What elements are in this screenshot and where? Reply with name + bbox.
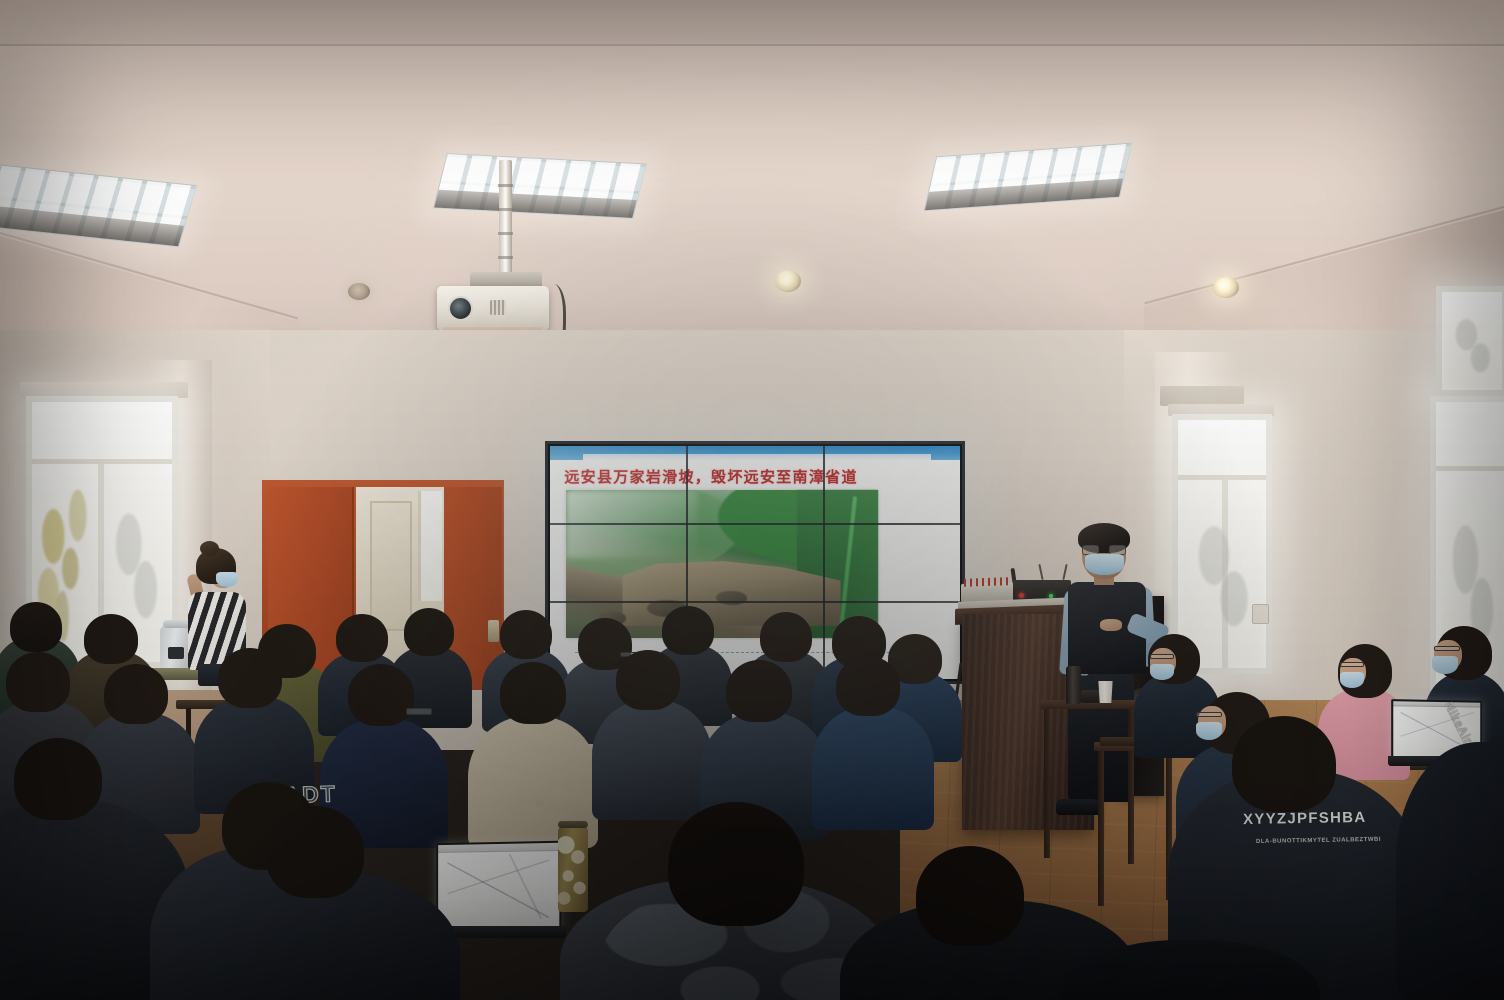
- slide-header-bar: [550, 446, 960, 460]
- photo-boulder: [716, 591, 747, 606]
- audience-head: [404, 608, 454, 656]
- ceiling-troffer-light-center: [433, 153, 647, 219]
- photo-mist: [566, 490, 697, 558]
- mixer-knobs[interactable]: [964, 577, 1008, 587]
- glasses-icon: [1150, 654, 1174, 659]
- pole-ring: [498, 232, 513, 235]
- projector-vent: [490, 300, 506, 315]
- corridor-door: [370, 501, 412, 631]
- pole-ring: [498, 184, 513, 187]
- laptop-sketch-content: [447, 853, 549, 918]
- stool-leg: [1098, 750, 1104, 906]
- window-transom: [1436, 402, 1504, 471]
- window-outdoor-view: [1444, 302, 1499, 384]
- projector-mount-pole: [499, 160, 512, 278]
- face-mask-icon: [216, 572, 238, 587]
- audience-head: [760, 612, 812, 662]
- window-outdoor-view: [1182, 494, 1263, 648]
- paper-cup[interactable]: [1097, 681, 1114, 703]
- audience-head: [348, 664, 414, 726]
- audience-head: [10, 602, 62, 652]
- audience-head: [104, 664, 168, 724]
- audience-head: [616, 650, 680, 710]
- window-right-tall: [1436, 286, 1504, 396]
- ceiling-soffit: [0, 0, 1504, 46]
- audience-head: [218, 648, 282, 708]
- audience-head: [336, 614, 388, 662]
- audience-head: [500, 610, 552, 659]
- glasses-icon: [1196, 712, 1222, 717]
- ceiling-seam-top: [0, 44, 1504, 46]
- audience-head: [266, 806, 364, 898]
- face-mask-icon: [1432, 656, 1458, 674]
- small-device-box[interactable]: [1081, 690, 1101, 703]
- ceiling-downlight-dim-left: [348, 283, 370, 300]
- slide-landslide-photo: [566, 490, 878, 638]
- face-mask-icon: [1340, 672, 1364, 688]
- air-vent-right: [1160, 386, 1244, 406]
- door-handle[interactable]: [488, 620, 499, 642]
- pole-ring: [498, 256, 513, 259]
- water-tumbler[interactable]: [558, 826, 588, 912]
- lecture-room-photo: 远安县万家岩滑坡，毁坏远安至南漳省道 113: [0, 0, 1504, 1000]
- projector-lens-icon: [448, 296, 473, 321]
- audience-head: [662, 606, 714, 655]
- audience-head: [84, 614, 138, 664]
- wall-outlet[interactable]: [1252, 604, 1269, 624]
- audience-head: [1232, 716, 1336, 812]
- glasses-icon: [406, 708, 432, 715]
- audience-head: [836, 656, 900, 716]
- kettle-control-panel[interactable]: [168, 647, 184, 659]
- hair-bun: [200, 541, 219, 556]
- ceiling-downlight-right: [1213, 277, 1239, 298]
- window-mid-right: [1172, 414, 1272, 674]
- audience-member: [592, 700, 712, 820]
- laptop-titlebar: [1393, 701, 1480, 707]
- audience-head: [14, 738, 102, 820]
- ceiling-downlight-center: [775, 270, 801, 292]
- thermos-flask[interactable]: [1066, 666, 1081, 704]
- presenter-shoe: [1056, 799, 1102, 815]
- window-transom: [32, 402, 172, 464]
- audience-head-foreground: [668, 802, 804, 926]
- corridor-window: [418, 491, 442, 601]
- slide-title: 远安县万家岩滑坡，毁坏远安至南漳省道: [564, 466, 945, 487]
- table-leg: [1044, 708, 1050, 858]
- open-laptop-screen[interactable]: [436, 841, 561, 930]
- face-mask-icon: [1196, 722, 1222, 740]
- audience-head: [916, 846, 1024, 946]
- power-led-red-icon: [1019, 593, 1024, 598]
- glasses-icon: [1434, 646, 1460, 651]
- audience-head: [500, 662, 566, 724]
- face-mask-icon: [1085, 554, 1124, 575]
- tumbler-pattern: [558, 826, 588, 912]
- audience-head: [6, 652, 70, 712]
- face-mask-icon: [1150, 664, 1174, 680]
- pole-ring: [498, 208, 513, 211]
- window-transom: [1178, 420, 1266, 480]
- laptop-titlebar: [438, 843, 559, 853]
- glasses-icon: [1340, 662, 1364, 667]
- audience-head: [726, 660, 792, 722]
- audience-member-blue: [812, 706, 934, 830]
- jacket-print-text: XYYZJPFSHBA: [1243, 809, 1367, 828]
- presenter-hand: [1100, 619, 1122, 631]
